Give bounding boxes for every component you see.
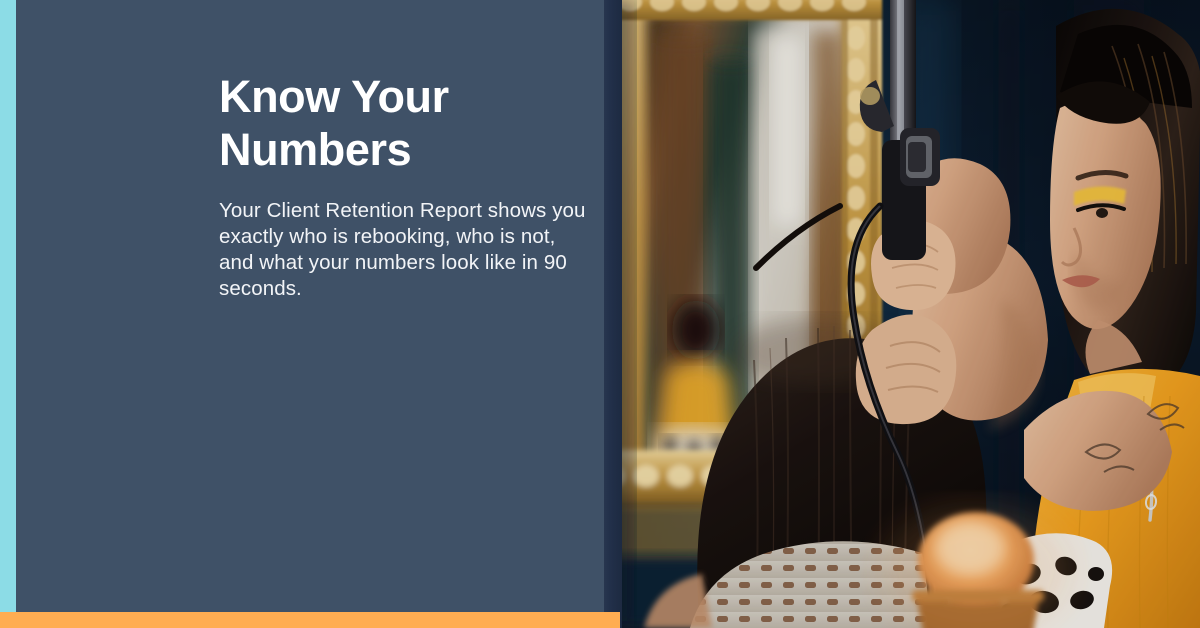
promo-banner: Know Your Numbers Your Client Retention … [0, 0, 1200, 628]
panel-content: Know Your Numbers Your Client Retention … [219, 70, 599, 302]
left-accent-strip [0, 0, 16, 618]
salon-photo [604, 0, 1200, 628]
panel-description: Your Client Retention Report shows you e… [219, 198, 591, 302]
text-panel: Know Your Numbers Your Client Retention … [16, 0, 604, 618]
salon-photo-illustration [604, 0, 1200, 628]
page-title: Know Your Numbers [219, 70, 599, 176]
bottom-accent-strip [0, 612, 620, 628]
